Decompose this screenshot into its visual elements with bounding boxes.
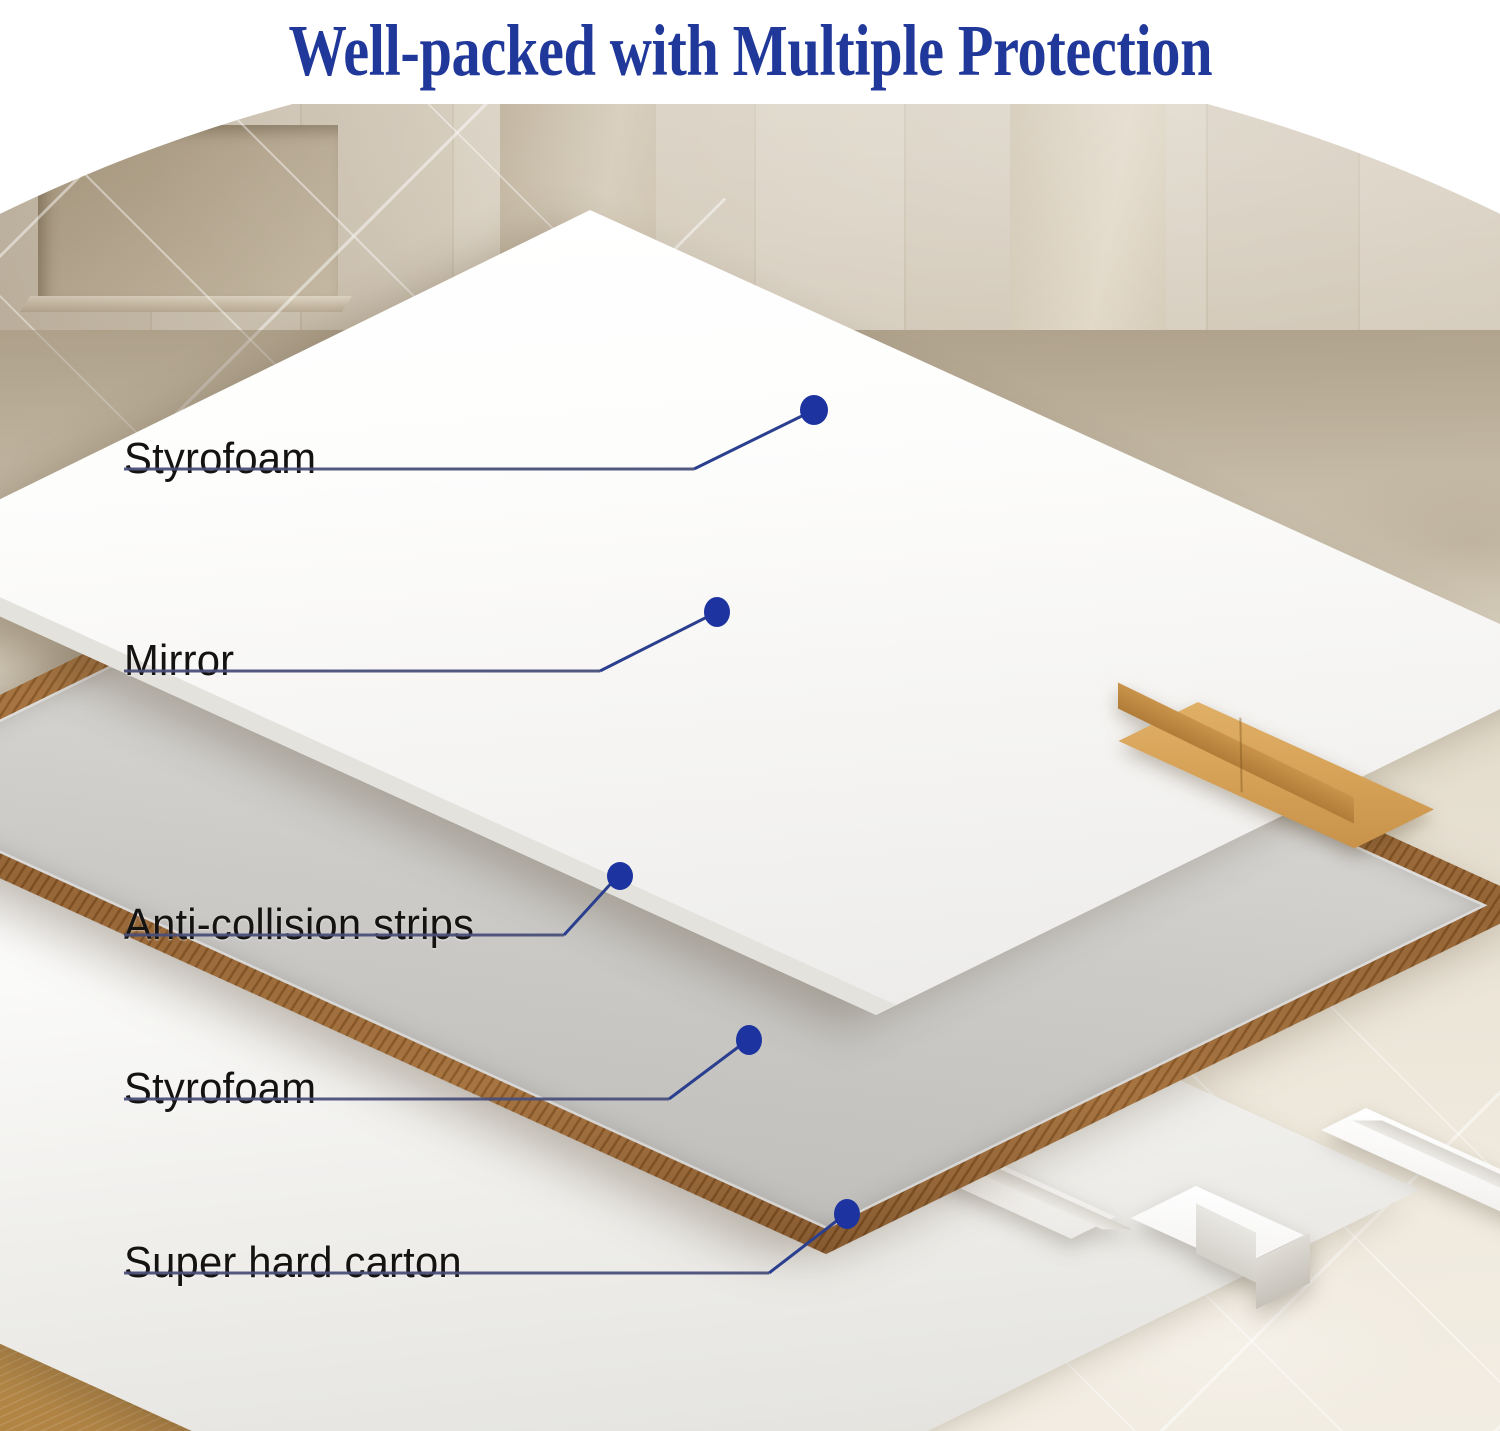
leader-line-mirror xyxy=(124,602,784,692)
callout-dot-mirror xyxy=(704,597,730,627)
callout-super-hard-carton[interactable]: Super hard carton xyxy=(124,1204,924,1294)
title-bar: Well-packed with Multiple Protection xyxy=(0,0,1500,104)
callout-mirror[interactable]: Mirror xyxy=(124,602,784,692)
infographic-stage: Well-packed with Multiple Protection Sty… xyxy=(0,0,1500,1431)
callout-dot-anti-collision-strips xyxy=(607,862,633,890)
leader-line-anti-collision-strips xyxy=(124,866,684,956)
callout-styrofoam-top[interactable]: Styrofoam xyxy=(124,400,884,490)
leader-line-styrofoam-bottom xyxy=(124,1030,824,1120)
callout-dot-styrofoam-bottom xyxy=(736,1025,762,1055)
callout-styrofoam-bottom[interactable]: Styrofoam xyxy=(124,1030,824,1120)
callout-anti-collision-strips[interactable]: Anti-collision strips xyxy=(124,866,684,956)
callout-dot-styrofoam-top xyxy=(800,395,828,425)
leader-line-super-hard-carton xyxy=(124,1204,924,1294)
page-title: Well-packed with Multiple Protection xyxy=(288,14,1212,87)
leader-line-styrofoam-top xyxy=(124,400,884,490)
callout-dot-super-hard-carton xyxy=(834,1199,860,1229)
